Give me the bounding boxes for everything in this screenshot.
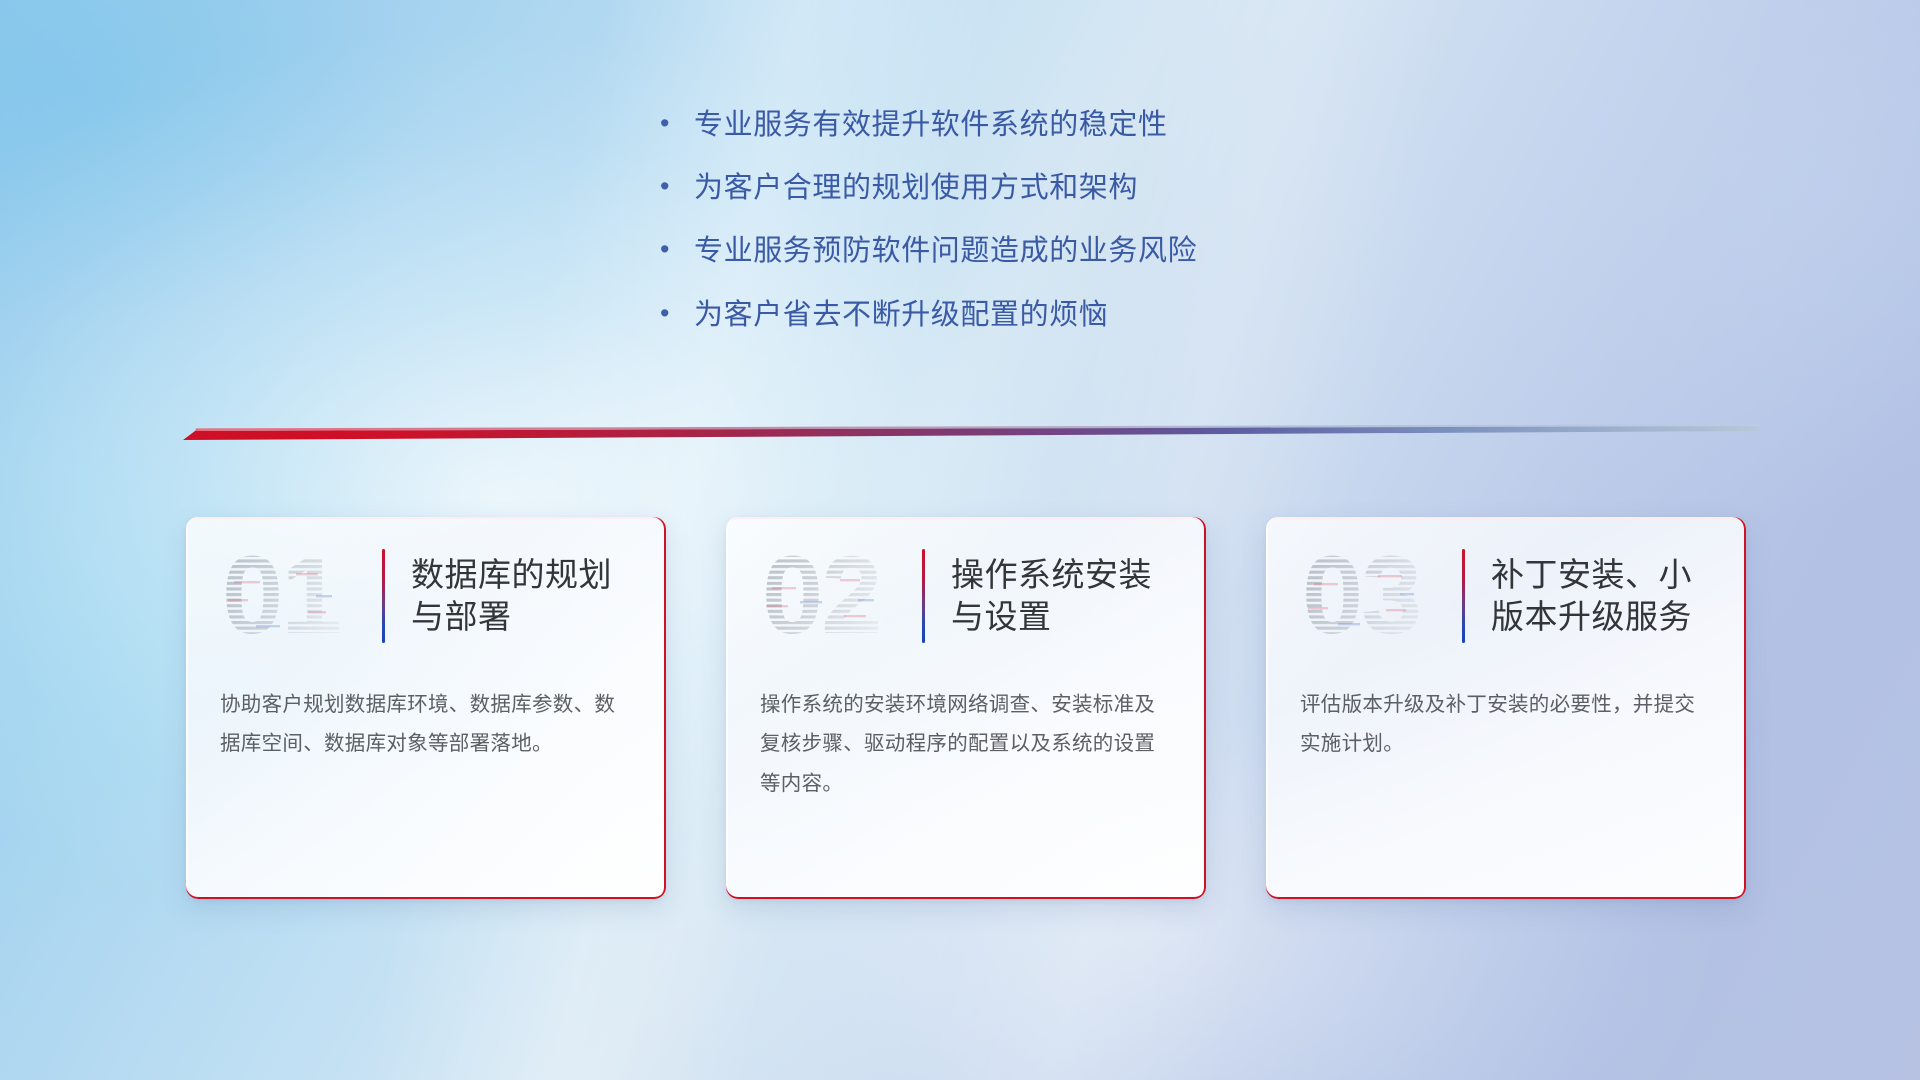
bullet-item-label: 为客户省去不断升级配置的烦恼 bbox=[694, 298, 1108, 332]
card-item[interactable]: 03 补丁安装、小 版本升 bbox=[1266, 517, 1746, 899]
svg-text:03: 03 bbox=[1302, 537, 1420, 655]
card-body-text: 评估版本升级及补丁安装的必要性，并提交实施计划。 bbox=[1266, 675, 1746, 764]
card-title: 数据库的规划 与部署 bbox=[411, 554, 622, 638]
bullet-item: • 专业服务预防软件问题造成的业务风险 bbox=[660, 234, 1420, 268]
card-title: 操作系统安装 与设置 bbox=[951, 554, 1162, 638]
card-item[interactable]: 01 数据库的规划 与部署 bbox=[186, 517, 666, 899]
section-divider bbox=[183, 420, 1759, 442]
svg-text:02: 02 bbox=[762, 537, 880, 655]
bullet-item: • 专业服务有效提升软件系统的稳定性 bbox=[660, 108, 1420, 142]
card-title-line: 版本升级服务 bbox=[1491, 596, 1692, 638]
card-title-divider bbox=[1462, 549, 1465, 643]
card-title-line: 操作系统安装 bbox=[951, 554, 1152, 596]
card-title-divider bbox=[382, 549, 385, 643]
bullet-dot-icon: • bbox=[660, 110, 694, 137]
bullet-item: • 为客户合理的规划使用方式和架构 bbox=[660, 171, 1420, 205]
card-number-watermark: 01 bbox=[220, 537, 368, 655]
bullet-dot-icon: • bbox=[660, 236, 694, 263]
card-number-watermark: 03 bbox=[1300, 537, 1448, 655]
card-number-01-icon: 01 bbox=[220, 537, 368, 655]
card-title-line: 数据库的规划 bbox=[411, 554, 612, 596]
bullet-item-label: 专业服务有效提升软件系统的稳定性 bbox=[694, 108, 1168, 142]
bullet-item-label: 为客户合理的规划使用方式和架构 bbox=[694, 171, 1138, 205]
card-number-watermark: 02 bbox=[760, 537, 908, 655]
card-list: 01 数据库的规划 与部署 bbox=[186, 517, 1746, 907]
bullet-item-label: 专业服务预防软件问题造成的业务风险 bbox=[694, 234, 1197, 268]
card-body-text: 协助客户规划数据库环境、数据库参数、数据库空间、数据库对象等部署落地。 bbox=[186, 675, 666, 764]
card-header: 01 数据库的规划 与部署 bbox=[186, 517, 666, 675]
card-title-line: 与部署 bbox=[411, 596, 612, 638]
card-header: 03 补丁安装、小 版本升 bbox=[1266, 517, 1746, 675]
section-divider-shape bbox=[183, 420, 1759, 442]
card-title-line: 补丁安装、小 bbox=[1491, 554, 1692, 596]
bullet-dot-icon: • bbox=[660, 173, 694, 200]
bullet-item: • 为客户省去不断升级配置的烦恼 bbox=[660, 298, 1420, 332]
card-number-02-icon: 02 bbox=[760, 537, 908, 655]
bullet-dot-icon: • bbox=[660, 300, 694, 327]
bullet-list: • 专业服务有效提升软件系统的稳定性 • 为客户合理的规划使用方式和架构 • 专… bbox=[660, 108, 1420, 361]
card-header: 02 操作系统安装 与设置 bbox=[726, 517, 1206, 675]
card-title-divider bbox=[922, 549, 925, 643]
card-title-line: 与设置 bbox=[951, 596, 1152, 638]
card-title: 补丁安装、小 版本升级服务 bbox=[1491, 554, 1702, 638]
card-body-text: 操作系统的安装环境网络调查、安装标准及复核步骤、驱动程序的配置以及系统的设置等内… bbox=[726, 675, 1206, 803]
card-number-03-icon: 03 bbox=[1300, 537, 1448, 655]
card-item[interactable]: 02 操作系统安装 与设置 bbox=[726, 517, 1206, 899]
